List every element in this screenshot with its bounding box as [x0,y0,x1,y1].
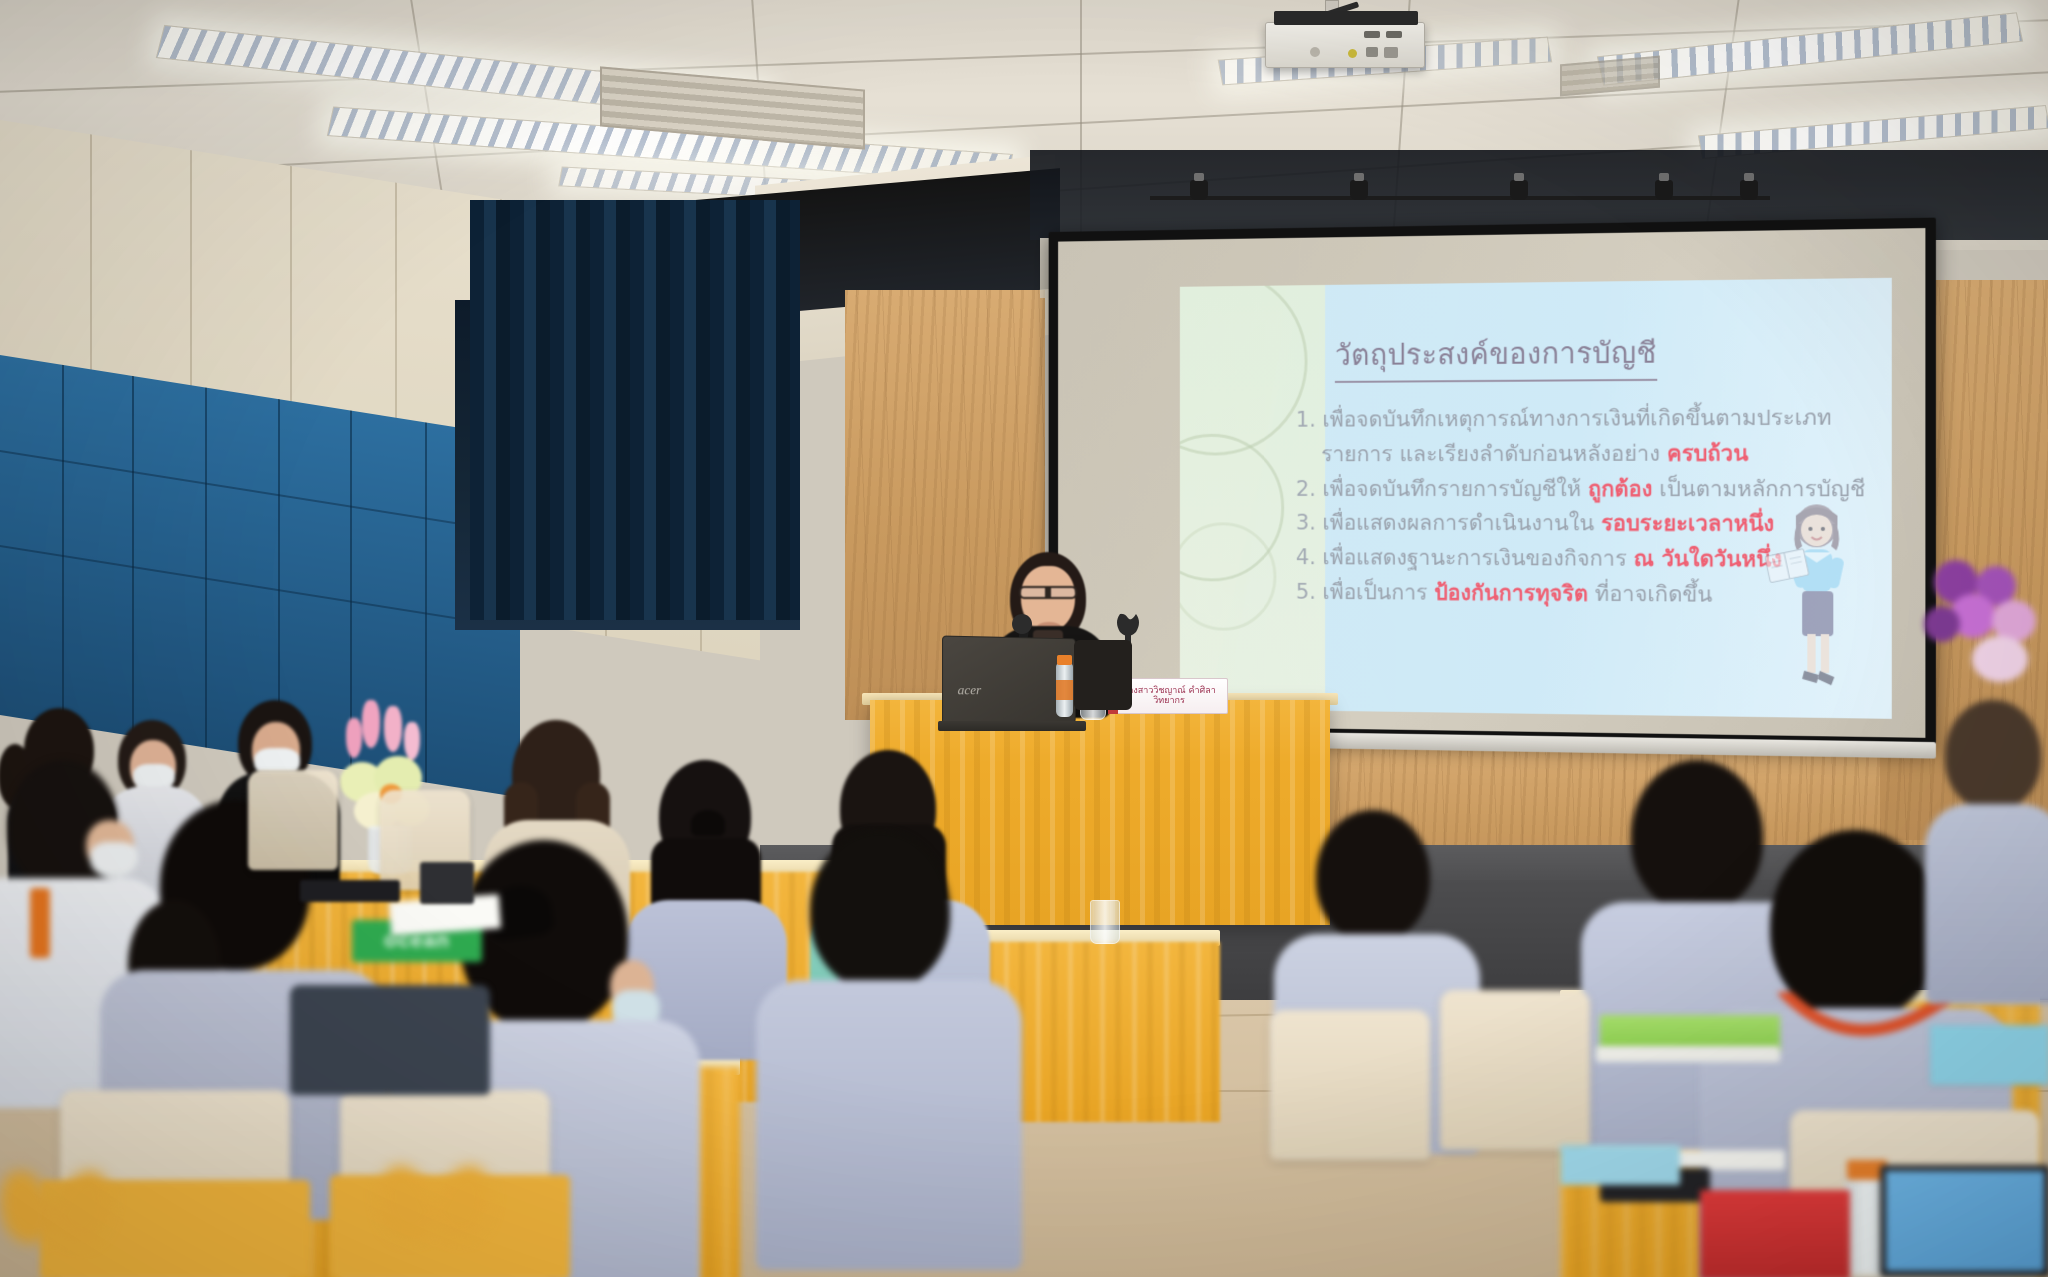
head-table-chair [248,770,338,870]
slide-item-continuation: รายการ และเรียงลำดับก่อนหลังอย่าง ครบถ้ว… [1296,437,1877,473]
slide-item-text: ที่อาจเกิดขึ้น [1588,582,1712,608]
slide-title: วัตถุประสงค์ของการบัญชี [1335,329,1657,383]
track-spotlight [1655,180,1673,200]
chair-bow [380,1165,490,1240]
slide-item-highlight: ครบถ้วน [1667,441,1748,467]
slide-item-highlight: ป้องกันการทุจริต [1434,581,1588,607]
track-spotlight [1190,180,1208,200]
track-spotlight [1740,180,1758,200]
bottle-label [1056,680,1073,700]
slide-item-text: เพื่อแสดงผลการดำเนินงานใน [1323,511,1602,537]
laptop-brand-label: acer [958,682,982,698]
screen-surface: วัตถุประสงค์ของการบัญชี 1. เพื่อจดบันทึก… [1058,228,1925,738]
presenter-laptop-base [938,721,1086,731]
glasses-bridge [1045,588,1051,597]
lanyard-icon [1774,992,1954,1082]
red-folder [1700,1190,1850,1277]
projector-port [1384,47,1398,58]
blue-notebook [1930,1025,2048,1085]
slide-item-text: เพื่อเป็นการ [1323,580,1435,606]
laptop-bag [290,985,490,1095]
chair-bow [0,1170,110,1245]
slide-item-text: เพื่อจดบันทึกเหตุการณ์ทางการเงินที่เกิดข… [1323,405,1832,432]
bottle-cap [1057,655,1072,665]
audience-member [1925,700,2048,990]
name-plate-name: นางสาววิชญาณ์ คำศิลา [1122,686,1216,696]
slide-item-number: 3. [1296,511,1316,536]
projection-screen: วัตถุประสงค์ของการบัญชี 1. เพื่อจดบันทึก… [1049,218,1936,753]
stage-curtain [470,200,800,620]
blue-paper [1560,1145,1680,1185]
seminar-room-photo: วัตถุประสงค์ของการบัญชี 1. เพื่อจดบันทึก… [0,0,2048,1277]
slide-item-text: เป็นตามหลักการบัญชี [1652,476,1865,502]
slide-item-highlight: ณ วันใดวันหนึ่ง [1634,547,1782,573]
laptop-screen [1886,1171,2044,1271]
name-plate-role: วิทยากร [1153,696,1185,706]
businesswoman-illustration-icon [1765,501,1865,696]
slide-item-number: 1. [1296,408,1316,433]
track-light-rail [1150,196,1770,200]
track-spotlight [1510,180,1528,200]
white-paper-stack [1596,1046,1780,1062]
slide-item-text: เพื่อจดบันทึกรายการบัญชีให้ [1323,477,1589,502]
audience-chair [1270,1010,1430,1160]
microphone-head [1012,614,1032,634]
projector-port [1366,47,1378,57]
audience-chair [1440,990,1590,1150]
projector-lens [1310,47,1320,57]
slide-item: 1. เพื่อจดบันทึกเหตุการณ์ทางการเงินที่เก… [1296,401,1877,438]
presentation-slide: วัตถุประสงค์ของการบัญชี 1. เพื่อจดบันทึก… [1180,278,1892,719]
drinking-glass [1090,900,1120,944]
audience-laptop [1880,1165,2048,1277]
slide-item-number: 2. [1296,477,1316,502]
track-spotlight [1350,180,1368,200]
ceiling-projector [1265,22,1425,68]
tablet-device [420,862,474,904]
projector-port [1386,31,1402,38]
projector-indicator [1348,49,1357,58]
projector-top-shell [1274,11,1418,25]
slide-item-number: 5. [1296,580,1316,605]
slide-item-number: 4. [1296,546,1316,571]
slide-item-text: รายการ และเรียงลำดับก่อนหลังอย่าง [1321,441,1667,467]
audience-member [770,830,1010,1250]
flower-arrangement-right [1920,560,2048,710]
slide-item-highlight: รอบระยะเวลาหนึ่ง [1601,512,1774,538]
projector-port [1364,31,1380,38]
slide-item-highlight: ถูกต้อง [1588,477,1652,502]
remote-control [300,880,400,902]
slide-item-text: เพื่อแสดงฐานะการเงินของกิจการ [1323,546,1634,572]
presenter-chair-back [1074,640,1132,710]
